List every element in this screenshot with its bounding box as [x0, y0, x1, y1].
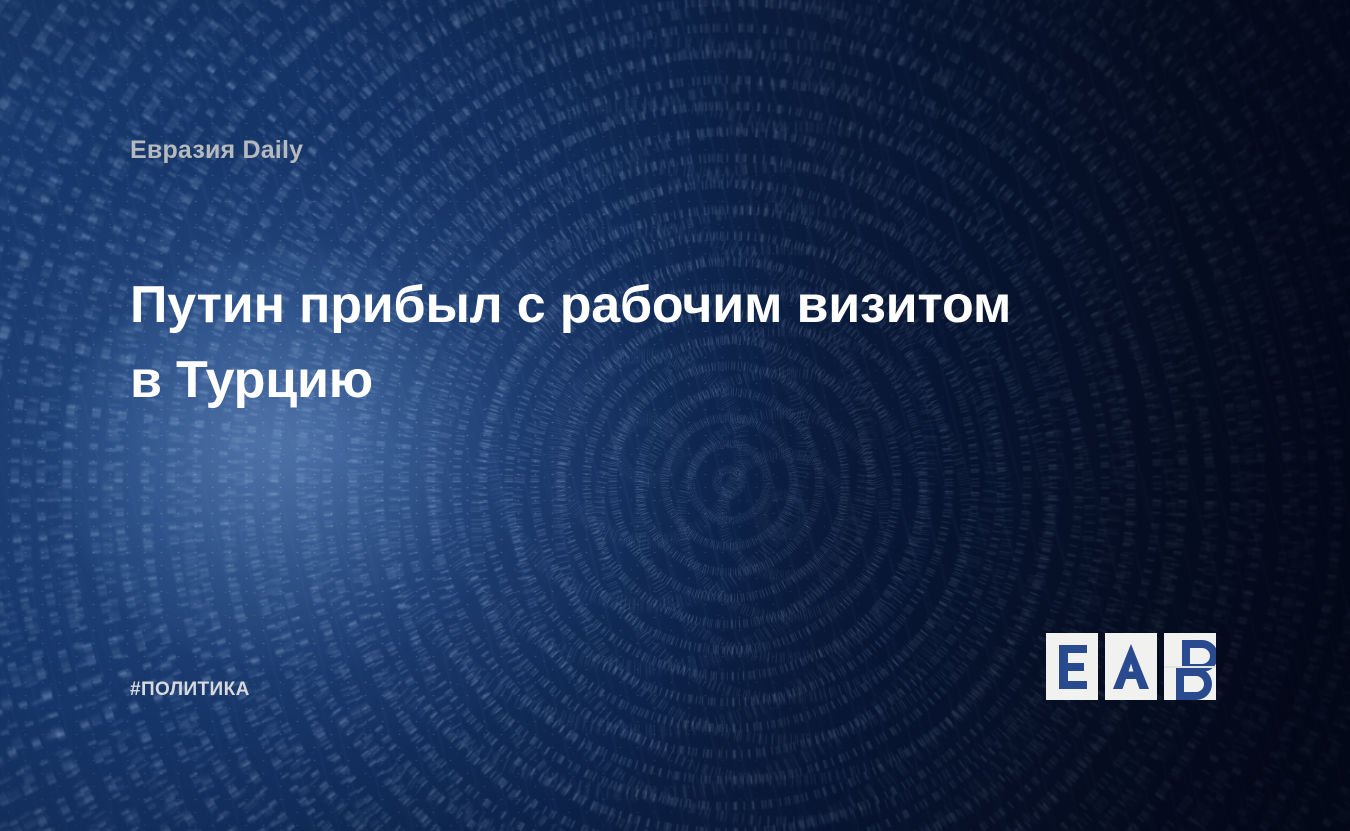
headline-line-2: в Турцию — [130, 343, 1090, 418]
eadaily-logo — [1046, 633, 1216, 700]
card-content: Евразия Daily Путин прибыл с рабочим виз… — [0, 0, 1350, 831]
double-d-mark-icon — [1164, 687, 1216, 700]
logo-mark-seam — [1164, 666, 1216, 668]
category-tag[interactable]: #ПОЛИТИКА — [130, 679, 250, 701]
letter-a-icon — [1105, 633, 1157, 700]
brand-name: Евразия Daily — [130, 136, 303, 165]
logo-tile-e — [1046, 633, 1098, 700]
page-title: Путин прибыл с рабочим визитом в Турцию — [130, 268, 1090, 418]
letter-e-icon — [1046, 633, 1098, 700]
logo-tile-double-d — [1164, 633, 1216, 700]
logo-tile-a — [1105, 633, 1157, 700]
news-card: Евразия Daily Путин прибыл с рабочим виз… — [0, 0, 1350, 831]
headline-line-1: Путин прибыл с рабочим визитом — [130, 268, 1090, 343]
